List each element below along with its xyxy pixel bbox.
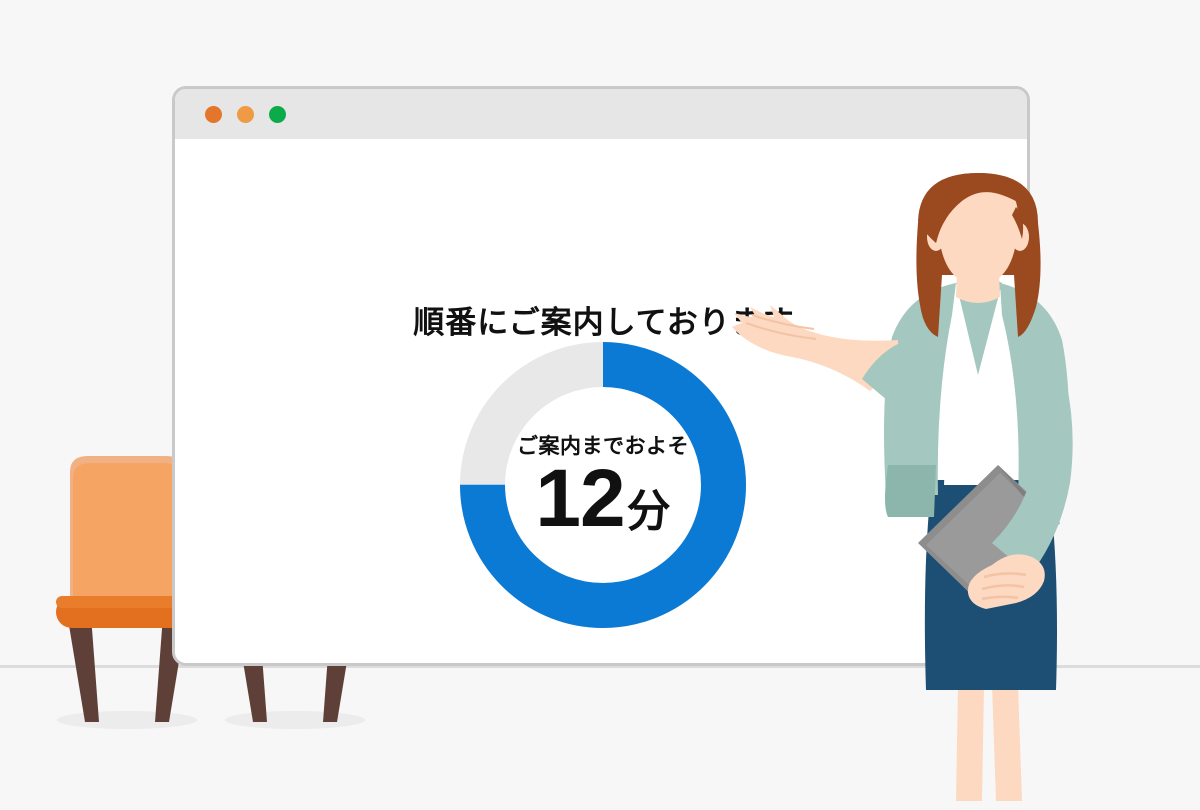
wait-time-donut-chart: ご案内までおよそ 12 分 [460, 342, 746, 628]
donut-center-value: 12 [535, 458, 624, 540]
blazer-hem-shade [885, 465, 936, 517]
illustration-scene: 順番にご案内しております ご案内までおよそ 12 分 [0, 0, 1200, 800]
chair-shadow [57, 711, 197, 729]
donut-center-text: ご案内までおよそ 12 分 [460, 342, 746, 628]
browser-titlebar [175, 89, 1027, 139]
chair-back [73, 463, 181, 604]
maximize-dot-icon[interactable] [269, 106, 286, 123]
donut-center-unit: 分 [627, 490, 671, 534]
donut-value-row: 12 分 [535, 458, 670, 540]
close-dot-icon[interactable] [205, 106, 222, 123]
minimize-dot-icon[interactable] [237, 106, 254, 123]
receptionist-illustration [730, 165, 1130, 805]
leg-left [956, 685, 984, 801]
leg-right [992, 685, 1022, 801]
chair-shadow [225, 711, 365, 729]
